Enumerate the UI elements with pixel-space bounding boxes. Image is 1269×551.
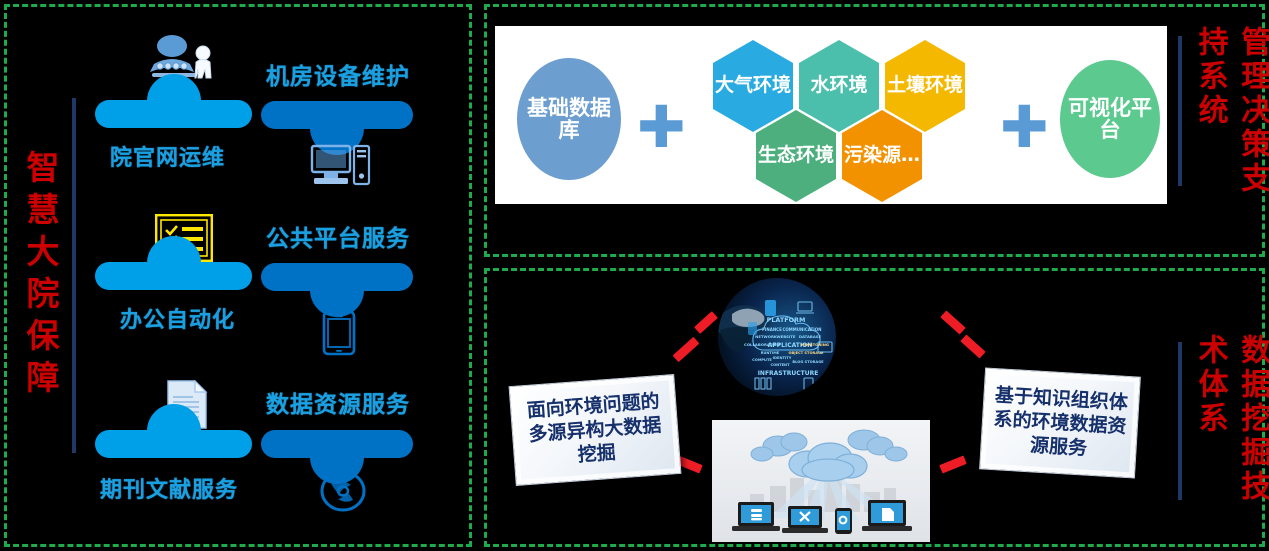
hexagon-soil-environment[interactable]: 土壤环境 <box>885 40 965 132</box>
hexagon-water-environment[interactable]: 水环境 <box>799 40 879 132</box>
callout-knowledge-organization-service[interactable]: 基于知识组织体系的环境数据资源服务 <box>979 367 1141 478</box>
row3-right-banner <box>261 430 413 458</box>
decision-support-board: 基础数据库 ✚ 大气环境 水环境 土壤环境 生态环境 污染源… ✚ 可视化平台 <box>495 26 1167 204</box>
svg-text:MONITORING: MONITORING <box>801 342 829 347</box>
svg-text:IDENTITY: IDENTITY <box>773 356 792 360</box>
row3-left-label: 期刊文献服务 <box>100 472 238 504</box>
svg-text:COMMUNICATION: COMMUNICATION <box>782 327 821 332</box>
row2-right-label: 公共平台服务 <box>266 219 410 253</box>
svg-text:CONTENT: CONTENT <box>770 363 790 367</box>
row3-left-banner <box>95 430 252 458</box>
row2-left-banner <box>95 262 252 290</box>
desktop-computer-icon <box>310 144 372 192</box>
top-right-divider <box>1178 36 1182 186</box>
row1-right-label: 机房设备维护 <box>266 57 410 91</box>
svg-text:BLOG STORAGE: BLOG STORAGE <box>792 360 824 364</box>
plus-operator-1: ✚ <box>637 98 686 156</box>
database-node[interactable]: 基础数据库 <box>517 58 621 180</box>
visualization-platform-node[interactable]: 可视化平台 <box>1060 60 1160 178</box>
left-panel-title: 智慧大院保障 <box>24 150 57 402</box>
row1-left-label: 院官网运维 <box>110 140 225 172</box>
svg-text:WEBSITE: WEBSITE <box>776 334 795 339</box>
svg-text:DATABASE: DATABASE <box>799 334 822 339</box>
top-right-panel-title: 管理决策支持系统 <box>1188 26 1269 196</box>
svg-text:INFRASTRUCTURE: INFRASTRUCTURE <box>758 370 819 377</box>
hexagon-pollution-source[interactable]: 污染源… <box>842 110 922 202</box>
svg-text:FINANCE: FINANCE <box>762 327 782 332</box>
bottom-right-divider <box>1178 342 1182 500</box>
hexagon-air-environment[interactable]: 大气环境 <box>713 40 793 132</box>
cloud-technology-hand-photo: PLATFORM FINANCE COMMUNICATION NETWORK W… <box>718 278 836 396</box>
svg-text:RUNTIME: RUNTIME <box>761 351 780 355</box>
callout-multisource-data-mining[interactable]: 面向环境问题的多源异构大数据挖掘 <box>509 374 682 486</box>
hexagon-eco-environment[interactable]: 生态环境 <box>756 110 836 202</box>
svg-text:COMPUTE: COMPUTE <box>752 358 772 362</box>
plus-operator-2: ✚ <box>1000 98 1049 156</box>
row2-right-banner <box>261 263 413 291</box>
row3-right-label: 数据资源服务 <box>266 385 410 419</box>
svg-text:NETWORK: NETWORK <box>755 334 778 339</box>
left-panel-divider <box>72 98 76 453</box>
tablet-device-icon <box>322 310 356 358</box>
bottom-right-panel-title: 数据挖掘技术体系 <box>1188 334 1269 510</box>
diagram-canvas: 智慧大院保障 院官网运维 机房设备维护 <box>0 0 1269 551</box>
row2-left-label: 办公自动化 <box>120 302 235 334</box>
cloud-computing-devices-photo <box>712 420 930 542</box>
row1-left-banner <box>95 100 252 128</box>
row1-right-banner <box>261 101 413 129</box>
optical-disc-icon <box>320 470 366 512</box>
svg-text:PLATFORM: PLATFORM <box>767 316 806 324</box>
